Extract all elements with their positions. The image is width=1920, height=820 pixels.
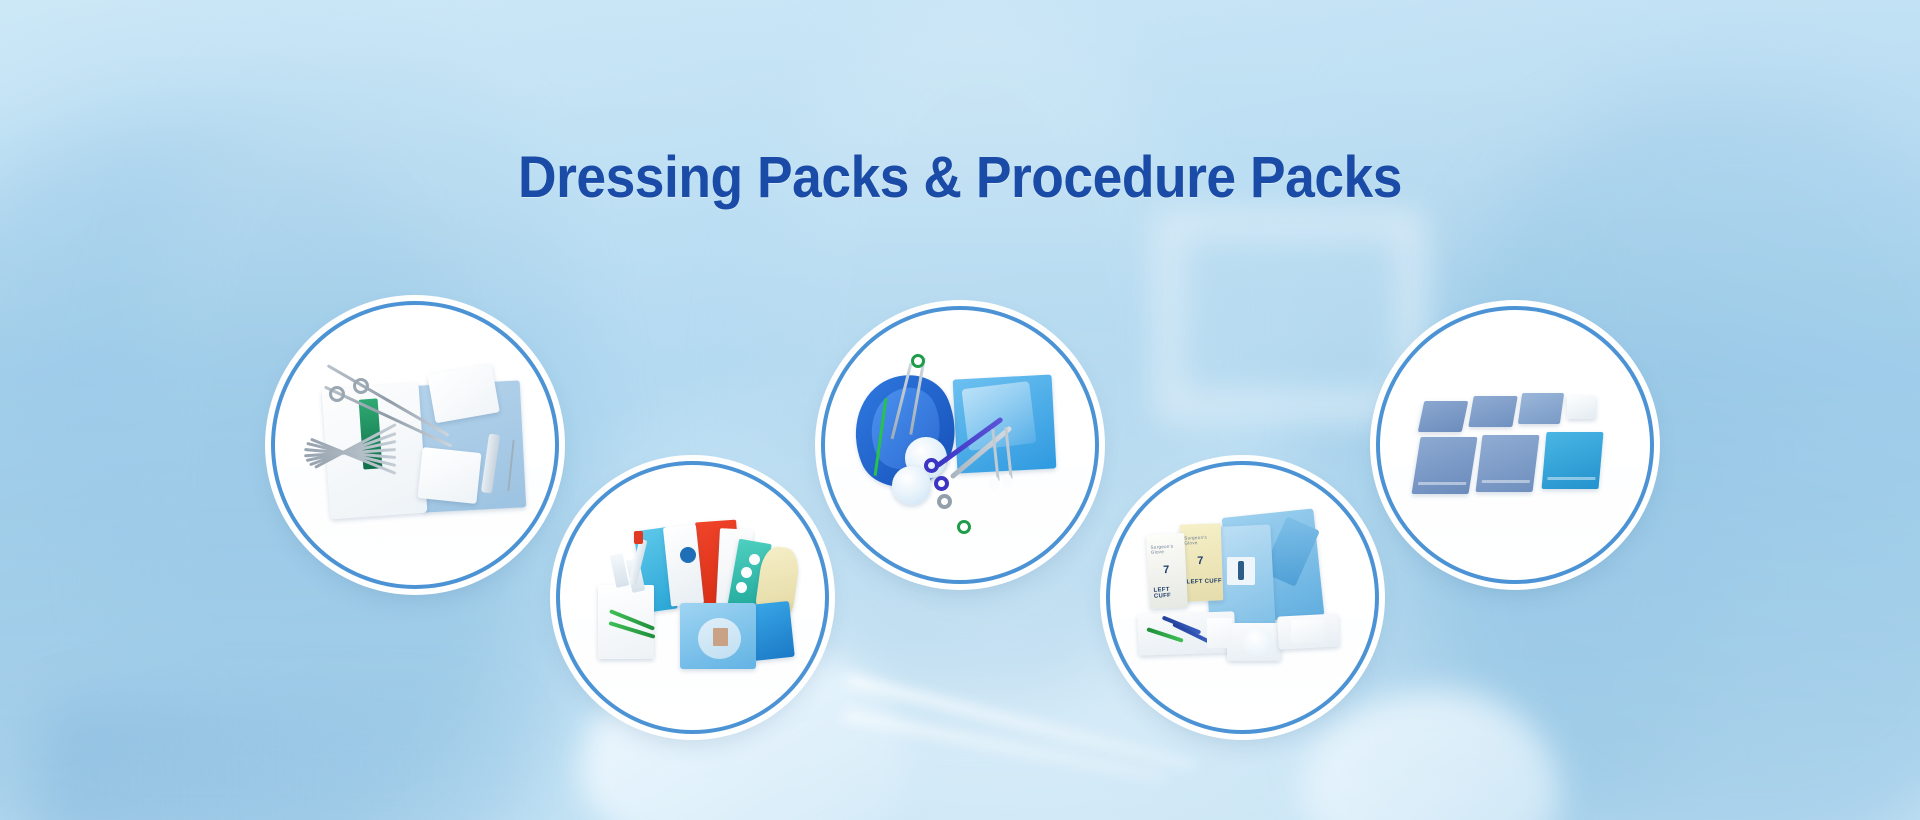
- hemostat-finger-ring: [329, 386, 345, 402]
- cotton-swab-tip: [1002, 474, 1012, 488]
- cotton-swab-tip: [989, 476, 999, 490]
- glove-size-label: 7: [1163, 563, 1170, 575]
- white-folded-towel: [1567, 396, 1596, 419]
- plastic-bowl: [892, 466, 931, 505]
- glove-packet: Surgeon's Glove 7 LEFT CUFF: [1146, 533, 1188, 609]
- product-banner: Dressing Packs & Procedure Packs: [0, 0, 1920, 820]
- glove-packet-header: Surgeon's Glove: [1184, 534, 1221, 545]
- gauze-pad: [418, 447, 482, 504]
- product-circle-surgical-gown-and-glove-pack[interactable]: Surgeon's Glove 7 LEFT CUFF Surgeon's Gl…: [1110, 465, 1375, 730]
- white-gauze-stack: [598, 585, 654, 659]
- page-title: Dressing Packs & Procedure Packs: [77, 148, 1843, 209]
- folded-drape: [1475, 435, 1539, 492]
- blue-marker-dot: [680, 547, 696, 563]
- folded-drape: [1418, 401, 1469, 432]
- product-photo: [830, 315, 1090, 575]
- folded-drape: [1468, 396, 1518, 427]
- gauze-stack: [1207, 618, 1233, 649]
- ampoule: [610, 553, 629, 588]
- product-photo: Surgeon's Glove 7 LEFT CUFF Surgeon's Gl…: [1115, 470, 1370, 725]
- syringe-cap: [634, 531, 643, 544]
- glove-packet-header: Surgeon's Glove: [1151, 543, 1186, 555]
- product-circle-blue-kidney-dish-dressing-set[interactable]: [825, 310, 1095, 580]
- round-container: [1243, 628, 1274, 656]
- gown-label: [1227, 557, 1255, 585]
- folded-drape-bright: [1541, 432, 1603, 489]
- product-photo: [1385, 315, 1645, 575]
- cotton-ball: [736, 582, 747, 593]
- glove-cuff-label: LEFT CUFF: [1187, 578, 1223, 585]
- product-circle-surgical-instrument-dressing-tray[interactable]: [275, 305, 555, 585]
- steel-forceps-ring: [937, 494, 952, 509]
- product-photo: [280, 310, 550, 580]
- purple-forceps-ring: [924, 458, 939, 473]
- cotton-ball: [749, 554, 760, 565]
- folded-drape: [1412, 437, 1478, 494]
- folded-drape: [1518, 393, 1564, 424]
- glove-size-label: 7: [1197, 554, 1204, 566]
- product-circle-multi-component-procedure-pack[interactable]: [560, 465, 825, 730]
- cotton-ball: [741, 567, 752, 578]
- product-circle-folded-surgical-drape-set[interactable]: [1380, 310, 1650, 580]
- hemostat-finger-ring: [353, 378, 369, 394]
- product-photo: [565, 470, 820, 725]
- glove-cuff-label: LEFT CUFF: [1154, 586, 1188, 600]
- absorbent-pad: [1291, 620, 1324, 643]
- adhesive-patch: [713, 628, 728, 646]
- probe-finger-ring: [911, 354, 925, 368]
